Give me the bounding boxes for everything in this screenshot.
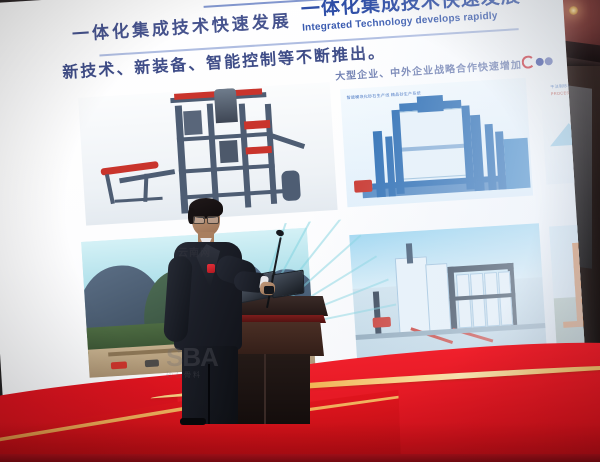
speaker-red-badge bbox=[207, 264, 215, 273]
eyeglasses-icon bbox=[193, 216, 219, 222]
laptop-secondary-icon bbox=[272, 270, 305, 299]
photograph-scene: 一体化集成技术快速发展 Integrated Technology develo… bbox=[0, 0, 600, 462]
stage-floor-strip bbox=[0, 454, 600, 462]
tile-caption-blue-plant: 智能模块化砂石生产线 精品砂生产系统 bbox=[346, 90, 421, 101]
slide-image-blue-plant: 智能模块化砂石生产线 精品砂生产系统 bbox=[340, 78, 533, 207]
speaker-leg-seam bbox=[208, 364, 210, 424]
speaker-person bbox=[160, 196, 270, 424]
speaker-shoe bbox=[180, 418, 206, 425]
speaker-trousers bbox=[182, 346, 238, 424]
ceiling-spotlight-icon bbox=[569, 6, 578, 15]
presenter-clicker-icon bbox=[264, 286, 274, 294]
slide-body-line-1: 一体化集成技术快速发展 bbox=[71, 6, 292, 45]
conference-logo-icon bbox=[521, 54, 553, 69]
